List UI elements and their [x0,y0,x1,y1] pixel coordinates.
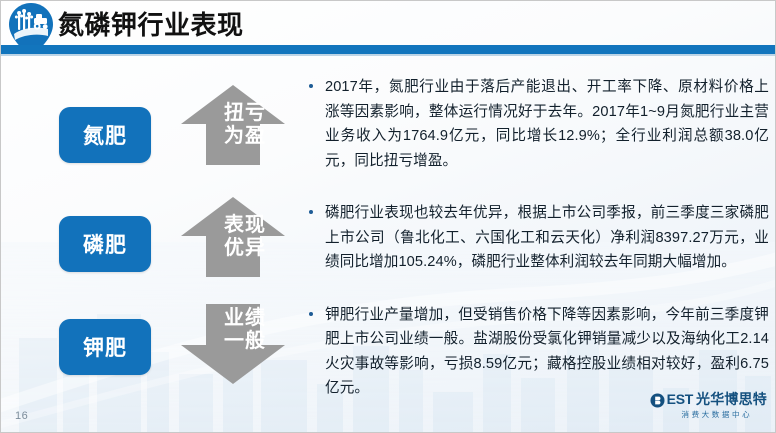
bullet-dot-icon [309,312,313,316]
best-circle-icon [650,393,665,408]
arrow-label-line-1: 业绩 [224,307,266,330]
arrow-label-line-2: 优异 [224,237,266,260]
arrow-label-line-1: 表现 [224,214,266,237]
list-item: 2017年，氮肥行业由于落后产能退出、开工率下降、原材料价格上涨等因素影响，整体… [307,75,769,173]
category-chip-jia-fei[interactable]: 钾肥 [59,319,151,375]
list-item: 磷肥行业表现也较去年优异，根据上市公司季报，前三季度三家磷肥上市公司（鲁北化工、… [307,201,769,275]
category-chip-dan-fei[interactable]: 氮肥 [59,107,151,163]
slide-header: 氮磷钾行业表现 [1,1,776,57]
chip-label: 磷肥 [83,229,127,259]
page-number: 16 [15,410,28,422]
arrow-label: 扭亏 为盈 [178,82,288,168]
arrow-label: 表现 优异 [178,194,288,280]
logo-text: EST光华博思特 消费大数据中心 [667,392,767,419]
chip-label: 氮肥 [83,120,127,150]
arrow-label-line-2: 为盈 [224,125,266,148]
logo-best-text: EST [667,391,693,407]
bullet-text: 钾肥行业产量增加，但受销售价格下降等因素影响，今年前三季度钾肥上市公司业绩一般。… [325,307,769,397]
arrow-label: 业绩 一般 [178,301,288,387]
trend-arrow-up-lin-fei: 表现 优异 [178,194,288,280]
trend-arrow-down-jia-fei: 业绩 一般 [178,301,288,387]
logo-company-name: 光华博思特 [696,391,767,407]
category-chip-lin-fei[interactable]: 磷肥 [59,216,151,272]
page-title: 氮磷钾行业表现 [58,9,244,41]
bullet-text: 磷肥行业表现也较去年优异，根据上市公司季报，前三季度三家磷肥上市公司（鲁北化工、… [325,205,769,270]
bullet-dot-icon [309,84,313,88]
logo-subtitle: 消费大数据中心 [667,411,767,419]
arrow-label-line-1: 扭亏 [224,102,266,125]
arrow-label-line-2: 一般 [224,330,266,353]
company-logo: EST光华博思特 消费大数据中心 [650,392,767,422]
chip-label: 钾肥 [83,332,127,362]
trend-arrow-up-dan-fei: 扭亏 为盈 [178,82,288,168]
list-item: 钾肥行业产量增加，但受销售价格下降等因素影响，今年前三季度钾肥上市公司业绩一般。… [307,303,769,401]
title-divider [1,45,776,56]
bullet-text: 2017年，氮肥行业由于落后产能退出、开工率下降、原材料价格上涨等因素影响，整体… [325,79,769,169]
bullet-list: 2017年，氮肥行业由于落后产能退出、开工率下降、原材料价格上涨等因素影响，整体… [307,75,769,429]
slide-canvas: 氮磷钾行业表现 氮肥 磷肥 钾肥 扭亏 为盈 表现 优异 业绩 [0,0,776,433]
bullet-dot-icon [309,210,313,214]
